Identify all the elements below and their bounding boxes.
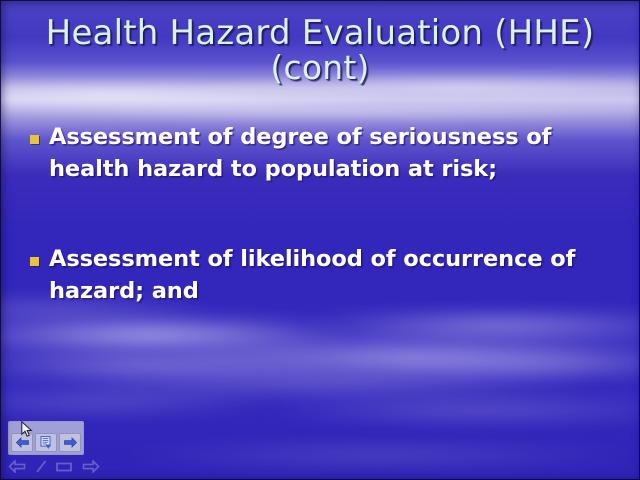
slide-border <box>0 0 640 480</box>
presentation-slide: Health Hazard Evaluation (HHE) (cont) As… <box>0 0 640 480</box>
